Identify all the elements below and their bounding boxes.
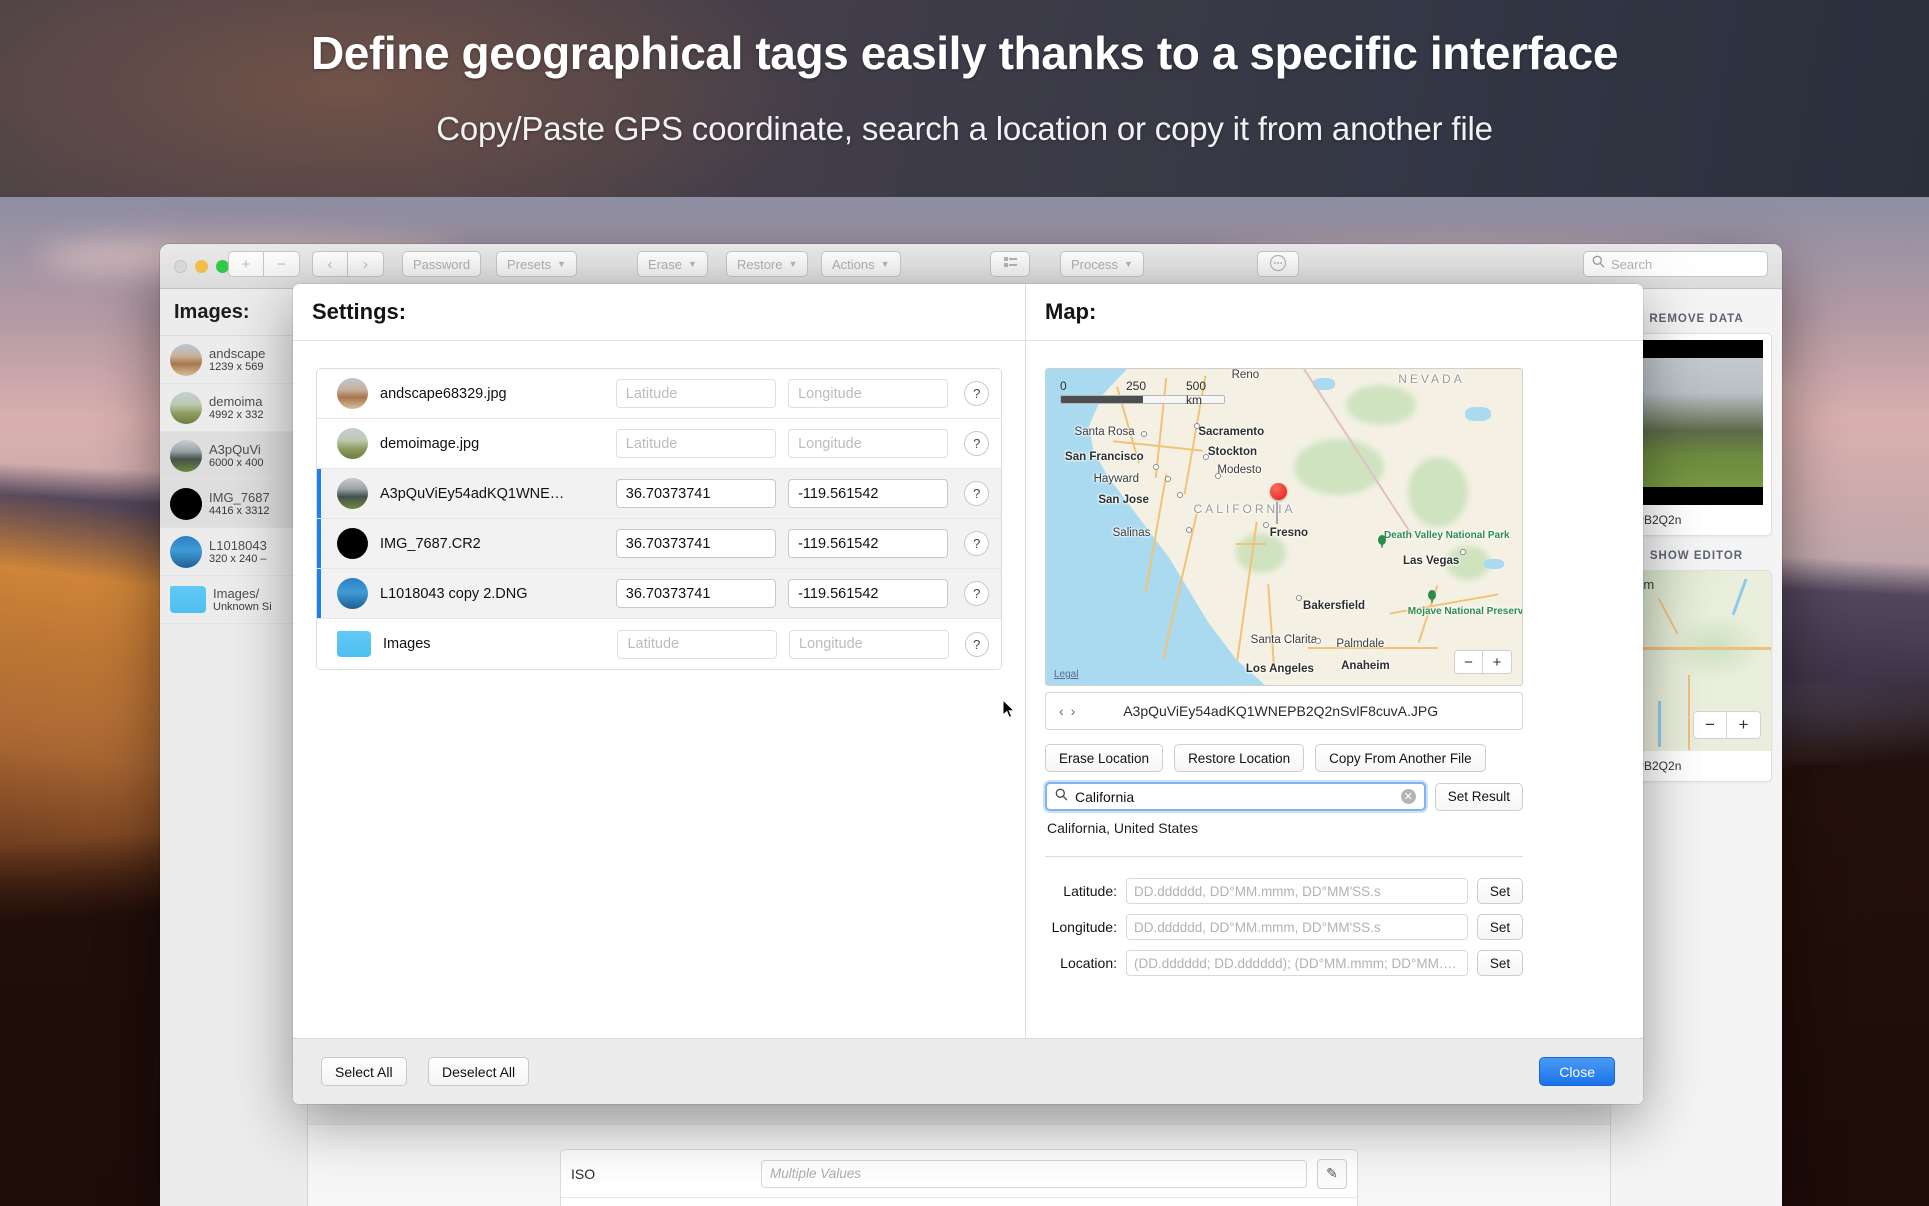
thumbnail-image bbox=[337, 378, 368, 409]
sidebar-item-size: 4992 x 332 bbox=[209, 409, 263, 421]
scale-label-500: 500 km bbox=[1186, 379, 1225, 407]
map-label-los-angeles: Los Angeles bbox=[1246, 663, 1314, 675]
sidebar-item-name: L1018043 bbox=[209, 538, 267, 553]
mouse-cursor bbox=[1003, 700, 1017, 720]
sidebar-item-name: Images/ bbox=[213, 586, 272, 601]
sidebar-item-2[interactable]: demoima4992 x 332 bbox=[160, 384, 307, 432]
map-preview[interactable]: 0 km ier − + bbox=[1622, 571, 1771, 751]
map-zoom-controls[interactable]: − + bbox=[1454, 650, 1512, 674]
restore-location-button[interactable]: Restore Location bbox=[1174, 744, 1304, 772]
map-label-palmdale: Palmdale bbox=[1336, 638, 1384, 650]
set-longitude-button[interactable]: Set bbox=[1477, 914, 1523, 940]
remove-button[interactable]: − bbox=[264, 251, 300, 277]
table-row[interactable]: F Number Multiple Values ▲ ▼ ✎ bbox=[561, 1198, 1357, 1206]
more-options-button[interactable] bbox=[1257, 251, 1299, 277]
latitude-field[interactable]: 36.70373741 bbox=[616, 579, 776, 608]
table-row[interactable]: L1018043 copy 2.DNG36.70373741-119.56154… bbox=[317, 569, 1001, 619]
help-icon[interactable]: ? bbox=[964, 581, 989, 606]
set-latitude-button[interactable]: Set bbox=[1477, 878, 1523, 904]
chevron-down-icon: ▼ bbox=[688, 259, 697, 269]
photo-preview-caption: EPB2Q2n bbox=[1622, 505, 1771, 535]
erase-location-button[interactable]: Erase Location bbox=[1045, 744, 1163, 772]
search-icon bbox=[1055, 788, 1068, 806]
copy-from-another-file-button[interactable]: Copy From Another File bbox=[1315, 744, 1486, 772]
edit-icon[interactable]: ✎ bbox=[1317, 1159, 1347, 1189]
thumbnail-image bbox=[337, 478, 368, 509]
map-label-modesto: Modesto bbox=[1217, 464, 1261, 476]
latitude-row: Latitude:DD.dddddd, DD°MM.mmm, DD°MM'SS.… bbox=[1045, 878, 1523, 904]
forward-button[interactable]: › bbox=[348, 251, 384, 277]
latitude-field[interactable]: Latitude bbox=[616, 429, 776, 458]
location-search-value: California bbox=[1075, 789, 1394, 805]
metadata-table: ISO Multiple Values ✎ F Number Multiple … bbox=[560, 1149, 1358, 1206]
folder-icon bbox=[170, 586, 206, 613]
sidebar-item-size: Unknown Si bbox=[213, 601, 272, 613]
sidebar-item-size: 320 x 240 – bbox=[209, 553, 267, 565]
longitude-field[interactable]: -119.561542 bbox=[788, 579, 948, 608]
map-label-las-vegas: Las Vegas bbox=[1403, 555, 1459, 567]
map-label-santa-clarita: Santa Clarita bbox=[1251, 634, 1317, 646]
thumbnail-image bbox=[170, 392, 202, 424]
file-name: Images bbox=[383, 636, 605, 652]
map-preview-zoom-in-button[interactable]: + bbox=[1727, 711, 1761, 739]
list-icon bbox=[1003, 255, 1018, 273]
map-zoom-out-button[interactable]: − bbox=[1454, 650, 1483, 674]
location-input[interactable]: (DD.dddddd; DD.dddddd); (DD°MM.mmm; DD°M… bbox=[1126, 950, 1468, 976]
promo-banner: Define geographical tags easily thanks t… bbox=[0, 0, 1929, 197]
thumbnail-image bbox=[170, 344, 202, 376]
sidebar-item-1[interactable]: andscape1239 x 569 bbox=[160, 336, 307, 384]
table-row[interactable]: IMG_7687.CR236.70373741-119.561542? bbox=[317, 519, 1001, 569]
help-icon[interactable]: ? bbox=[964, 381, 989, 406]
restore-button[interactable]: Restore▼ bbox=[726, 251, 808, 277]
park-tree-icon bbox=[1427, 590, 1437, 608]
help-icon[interactable]: ? bbox=[964, 481, 989, 506]
longitude-field[interactable]: -119.561542 bbox=[788, 479, 948, 508]
map-label-reno: Reno bbox=[1232, 369, 1260, 381]
map-preview-card[interactable]: 0 km ier − + EPB2Q2n bbox=[1621, 570, 1772, 782]
sidebar-item-size: 1239 x 569 bbox=[209, 361, 265, 373]
file-name: andscape68329.jpg bbox=[380, 386, 604, 402]
erase-button[interactable]: Erase▼ bbox=[637, 251, 708, 277]
latitude-label: Latitude: bbox=[1045, 883, 1117, 899]
sidebar-item-size: 6000 x 400 bbox=[209, 457, 263, 469]
latitude-field[interactable]: 36.70373741 bbox=[616, 479, 776, 508]
file-name: demoimage.jpg bbox=[380, 436, 604, 452]
latitude-input[interactable]: DD.dddddd, DD°MM.mmm, DD°MM'SS.s bbox=[1126, 878, 1468, 904]
location-search-input[interactable]: California ✕ bbox=[1045, 782, 1426, 811]
map-label-santa-rosa: Santa Rosa bbox=[1075, 426, 1135, 438]
map-label-bakersfield: Bakersfield bbox=[1303, 600, 1365, 612]
search-input[interactable]: Search bbox=[1583, 251, 1768, 277]
divider bbox=[1045, 856, 1523, 857]
map-label-san-francisco: San Francisco bbox=[1065, 451, 1144, 463]
thumbnail-image bbox=[337, 578, 368, 609]
add-button[interactable]: + bbox=[228, 251, 264, 277]
longitude-field[interactable]: Longitude bbox=[789, 630, 949, 659]
map-label-mojave: Mojave National Preserve bbox=[1408, 606, 1490, 618]
set-result-button[interactable]: Set Result bbox=[1435, 783, 1523, 811]
images-sidebar: Images: andscape1239 x 569demoima4992 x … bbox=[160, 289, 308, 1206]
sidebar-item-5[interactable]: L1018043320 x 240 – bbox=[160, 528, 307, 576]
search-placeholder: Search bbox=[1611, 257, 1652, 272]
map-label-salinas: Salinas bbox=[1113, 527, 1151, 539]
photo-preview-card[interactable]: EPB2Q2n bbox=[1621, 333, 1772, 536]
minimize-window-button[interactable] bbox=[195, 260, 208, 273]
metadata-section: ISO Multiple Values ✎ F Number Multiple … bbox=[308, 1124, 1610, 1206]
table-row[interactable]: andscape68329.jpgLatitudeLongitude? bbox=[317, 369, 1001, 419]
map-label-death-valley: Death Valley National Park bbox=[1384, 530, 1462, 542]
latitude-field[interactable]: Latitude bbox=[617, 630, 777, 659]
longitude-field[interactable]: Longitude bbox=[788, 379, 948, 408]
process-button[interactable]: Process▼ bbox=[1060, 251, 1144, 277]
sidebar-item-name: andscape bbox=[209, 346, 265, 361]
table-row[interactable]: ISO Multiple Values ✎ bbox=[561, 1150, 1357, 1198]
sidebar-item-3[interactable]: A3pQuVi6000 x 400 bbox=[160, 432, 307, 480]
longitude-field[interactable]: -119.561542 bbox=[788, 529, 948, 558]
map-title: Map: bbox=[1026, 284, 1643, 341]
location-label: Location: bbox=[1045, 955, 1117, 971]
scale-label-250: 250 bbox=[1126, 379, 1146, 393]
thumbnail-image bbox=[170, 536, 202, 568]
location-search-result[interactable]: California, United States bbox=[1047, 820, 1198, 836]
chevron-down-icon: ▼ bbox=[789, 259, 798, 269]
table-row[interactable]: ImagesLatitudeLongitude? bbox=[317, 619, 1001, 669]
map-label-anaheim: Anaheim bbox=[1341, 660, 1390, 672]
file-name: IMG_7687.CR2 bbox=[380, 536, 604, 552]
list-view-button[interactable] bbox=[990, 251, 1030, 277]
deselect-all-button[interactable]: Deselect All bbox=[428, 1057, 529, 1086]
map-preview-caption: EPB2Q2n bbox=[1622, 751, 1771, 781]
chevron-down-icon: ▼ bbox=[881, 259, 890, 269]
map-label-fresno: Fresno bbox=[1270, 527, 1308, 539]
coordinate-form: Latitude:DD.dddddd, DD°MM.mmm, DD°MM'SS.… bbox=[1045, 878, 1523, 986]
set-location-button[interactable]: Set bbox=[1477, 950, 1523, 976]
location-map[interactable]: 0 250 500 km CALIFORNIA NEVADA Santa Ros… bbox=[1045, 368, 1523, 686]
location-search-row: California ✕ Set Result bbox=[1045, 782, 1523, 811]
map-label-nevada: NEVADA bbox=[1398, 372, 1464, 386]
sidebar-title: Images: bbox=[160, 289, 307, 336]
back-button[interactable]: ‹ bbox=[312, 251, 348, 277]
longitude-label: Longitude: bbox=[1045, 919, 1117, 935]
map-pane: Map: bbox=[1026, 284, 1643, 1038]
window-toolbar: + − ‹ › Password Presets▼ Erase▼ Restore… bbox=[160, 244, 1782, 289]
map-legal-link[interactable]: Legal bbox=[1054, 669, 1078, 680]
longitude-row: Longitude:DD.dddddd, DD°MM.mmm, DD°MM'SS… bbox=[1045, 914, 1523, 940]
chevron-down-icon: ▼ bbox=[1124, 259, 1133, 269]
map-preview-zoom-out-button[interactable]: − bbox=[1693, 711, 1727, 739]
help-icon[interactable]: ? bbox=[964, 431, 989, 456]
sidebar-item-4[interactable]: IMG_76874416 x 3312 bbox=[160, 480, 307, 528]
map-label-san-jose: San Jose bbox=[1098, 494, 1149, 506]
help-icon[interactable]: ? bbox=[965, 632, 989, 657]
actions-button[interactable]: Actions▼ bbox=[821, 251, 901, 277]
map-label-sacramento: Sacramento bbox=[1198, 426, 1264, 438]
scale-label-0: 0 bbox=[1060, 379, 1067, 393]
map-scale-bar: 0 250 500 km bbox=[1060, 379, 1225, 404]
iso-input[interactable]: Multiple Values bbox=[761, 1160, 1307, 1188]
geotag-dialog: Settings: andscape68329.jpgLatitudeLongi… bbox=[293, 284, 1643, 1104]
folder-icon bbox=[337, 631, 371, 657]
file-name: L1018043 copy 2.DNG bbox=[380, 586, 604, 602]
map-label-stockton: Stockton bbox=[1208, 446, 1257, 458]
map-zoom-in-button[interactable]: + bbox=[1483, 650, 1512, 674]
thumbnail-image bbox=[337, 528, 368, 559]
map-label-hayward: Hayward bbox=[1094, 473, 1139, 485]
longitude-input[interactable]: DD.dddddd, DD°MM.mmm, DD°MM'SS.s bbox=[1126, 914, 1468, 940]
sidebar-item-6[interactable]: Images/Unknown Si bbox=[160, 576, 307, 624]
ellipsis-circle-icon bbox=[1269, 254, 1287, 275]
location-row: Location:(DD.dddddd; DD.dddddd); (DD°MM.… bbox=[1045, 950, 1523, 976]
geotag-file-table: andscape68329.jpgLatitudeLongitude?demoi… bbox=[316, 368, 1002, 670]
map-preview-zoom-controls[interactable]: − + bbox=[1693, 711, 1761, 739]
close-button[interactable]: Close bbox=[1539, 1057, 1615, 1086]
thumbnail-image bbox=[170, 488, 202, 520]
map-location-pin[interactable] bbox=[1270, 483, 1287, 500]
table-row[interactable]: A3pQuViEy54adKQ1WNE…36.70373741-119.5615… bbox=[317, 469, 1001, 519]
window-controls[interactable] bbox=[174, 260, 229, 273]
longitude-field[interactable]: Longitude bbox=[788, 429, 948, 458]
dialog-footer: Select All Deselect All Close bbox=[293, 1038, 1643, 1104]
location-actions: Erase Location Restore Location Copy Fro… bbox=[1045, 744, 1523, 772]
thumbnail-image bbox=[337, 428, 368, 459]
sidebar-item-name: A3pQuVi bbox=[209, 442, 263, 457]
close-window-button[interactable] bbox=[174, 260, 187, 273]
latitude-field[interactable]: Latitude bbox=[616, 379, 776, 408]
photo-preview bbox=[1630, 340, 1763, 505]
settings-pane: Settings: andscape68329.jpgLatitudeLongi… bbox=[293, 284, 1026, 1038]
banner-title: Define geographical tags easily thanks t… bbox=[0, 26, 1929, 80]
password-button[interactable]: Password bbox=[402, 251, 481, 277]
sidebar-item-name: demoima bbox=[209, 394, 263, 409]
current-file-bar: ‹ › A3pQuViEy54adKQ1WNEPB2Q2nSvlF8cuvA.J… bbox=[1045, 692, 1523, 730]
park-tree-icon bbox=[1377, 535, 1387, 553]
sidebar-item-name: IMG_7687 bbox=[209, 490, 270, 505]
map-label-california: CALIFORNIA bbox=[1194, 502, 1296, 516]
clear-search-icon[interactable]: ✕ bbox=[1401, 789, 1416, 804]
previous-file-button[interactable]: ‹ bbox=[1059, 703, 1064, 719]
sidebar-list: andscape1239 x 569demoima4992 x 332A3pQu… bbox=[160, 336, 307, 624]
search-icon bbox=[1592, 255, 1605, 273]
presets-button[interactable]: Presets▼ bbox=[496, 251, 577, 277]
latitude-field[interactable]: 36.70373741 bbox=[616, 529, 776, 558]
help-icon[interactable]: ? bbox=[964, 531, 989, 556]
file-name: A3pQuViEy54adKQ1WNE… bbox=[380, 486, 604, 502]
select-all-button[interactable]: Select All bbox=[321, 1057, 407, 1086]
current-file-name: A3pQuViEy54adKQ1WNEPB2Q2nSvlF8cuvA.JPG bbox=[1075, 703, 1522, 719]
metadata-label: ISO bbox=[571, 1166, 751, 1182]
chevron-down-icon: ▼ bbox=[557, 259, 566, 269]
sidebar-item-size: 4416 x 3312 bbox=[209, 505, 270, 517]
thumbnail-image bbox=[170, 440, 202, 472]
settings-title: Settings: bbox=[293, 284, 1025, 341]
table-row[interactable]: demoimage.jpgLatitudeLongitude? bbox=[317, 419, 1001, 469]
banner-subtitle: Copy/Paste GPS coordinate, search a loca… bbox=[0, 110, 1929, 148]
